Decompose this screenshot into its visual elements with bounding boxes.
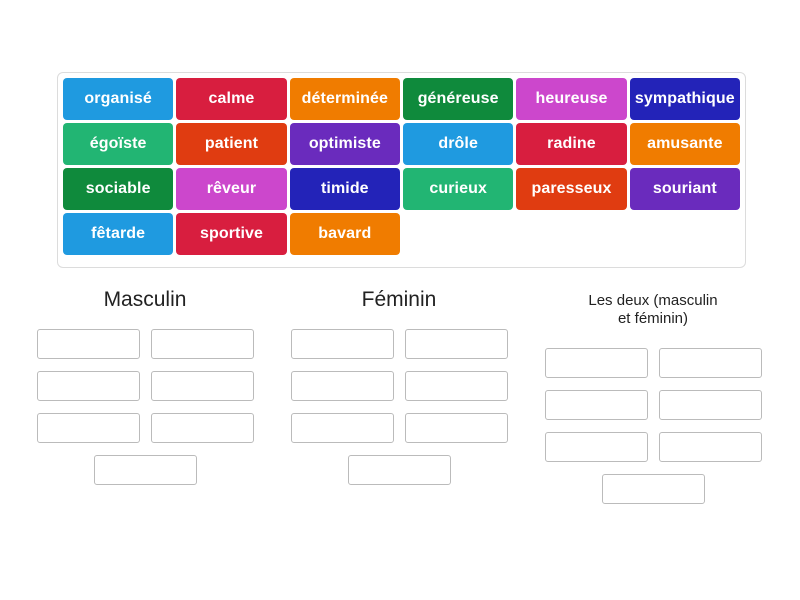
drop-slot[interactable] <box>405 329 508 359</box>
word-tile[interactable]: optimiste <box>290 123 400 165</box>
category-title: Féminin <box>354 288 445 313</box>
category-title: Les deux (masculinet féminin) <box>580 292 725 329</box>
word-tile[interactable]: sportive <box>176 213 286 255</box>
word-tile[interactable]: paresseux <box>516 168 626 210</box>
drop-slot[interactable] <box>151 329 254 359</box>
drop-slot[interactable] <box>37 371 140 401</box>
word-tile[interactable]: bavard <box>290 213 400 255</box>
drop-slot-row <box>291 329 508 359</box>
drop-slot[interactable] <box>151 371 254 401</box>
drop-slot-group <box>526 348 780 504</box>
word-tile[interactable]: fêtarde <box>63 213 173 255</box>
word-tile[interactable]: rêveur <box>176 168 286 210</box>
drop-slot[interactable] <box>659 390 762 420</box>
drop-slot[interactable] <box>151 413 254 443</box>
word-tile[interactable]: généreuse <box>403 78 513 120</box>
drop-slot[interactable] <box>291 371 394 401</box>
drop-slot[interactable] <box>602 474 705 504</box>
drop-slot[interactable] <box>405 371 508 401</box>
word-tile[interactable]: patient <box>176 123 286 165</box>
drop-slot[interactable] <box>659 348 762 378</box>
category-title-line: et féminin) <box>618 310 688 327</box>
word-tile[interactable]: timide <box>290 168 400 210</box>
word-tile[interactable]: souriant <box>630 168 740 210</box>
activity-page: organisécalmedéterminéegénéreuseheureuse… <box>0 0 800 600</box>
word-tile[interactable]: égoïste <box>63 123 173 165</box>
drop-slot-row <box>348 455 451 485</box>
drop-slot-group <box>272 329 526 485</box>
drop-slot-row <box>37 329 254 359</box>
word-bank-panel: organisécalmedéterminéegénéreuseheureuse… <box>57 72 746 268</box>
drop-slot[interactable] <box>291 413 394 443</box>
drop-slot-row <box>94 455 197 485</box>
drop-slot[interactable] <box>37 329 140 359</box>
category-column: Les deux (masculinet féminin) <box>526 288 780 504</box>
drop-slot-row <box>545 432 762 462</box>
category-columns: MasculinFémininLes deux (masculinet fémi… <box>18 288 782 504</box>
drop-slot[interactable] <box>545 390 648 420</box>
drop-slot-row <box>602 474 705 504</box>
drop-slot-row <box>545 390 762 420</box>
drop-slot[interactable] <box>291 329 394 359</box>
drop-slot[interactable] <box>659 432 762 462</box>
word-tile-grid: organisécalmedéterminéegénéreuseheureuse… <box>63 78 740 255</box>
word-tile[interactable]: drôle <box>403 123 513 165</box>
drop-slot-row <box>37 371 254 401</box>
drop-slot[interactable] <box>37 413 140 443</box>
drop-slot[interactable] <box>405 413 508 443</box>
word-tile[interactable]: radine <box>516 123 626 165</box>
drop-slot-row <box>291 413 508 443</box>
category-title-line: Les deux (masculin <box>588 292 717 309</box>
category-column: Masculin <box>18 288 272 504</box>
category-title: Masculin <box>96 288 195 313</box>
drop-slot-row <box>545 348 762 378</box>
word-tile[interactable]: déterminée <box>290 78 400 120</box>
drop-slot[interactable] <box>545 348 648 378</box>
word-tile[interactable]: sociable <box>63 168 173 210</box>
drop-slot[interactable] <box>545 432 648 462</box>
word-tile[interactable]: curieux <box>403 168 513 210</box>
drop-slot[interactable] <box>94 455 197 485</box>
category-title-line: Féminin <box>362 288 437 311</box>
word-tile[interactable]: heureuse <box>516 78 626 120</box>
word-tile[interactable]: amusante <box>630 123 740 165</box>
category-column: Féminin <box>272 288 526 504</box>
word-tile[interactable]: organisé <box>63 78 173 120</box>
word-tile[interactable]: sympathique <box>630 78 740 120</box>
drop-slot-group <box>18 329 272 485</box>
drop-slot-row <box>291 371 508 401</box>
drop-slot[interactable] <box>348 455 451 485</box>
drop-slot-row <box>37 413 254 443</box>
word-tile[interactable]: calme <box>176 78 286 120</box>
category-title-line: Masculin <box>104 288 187 311</box>
